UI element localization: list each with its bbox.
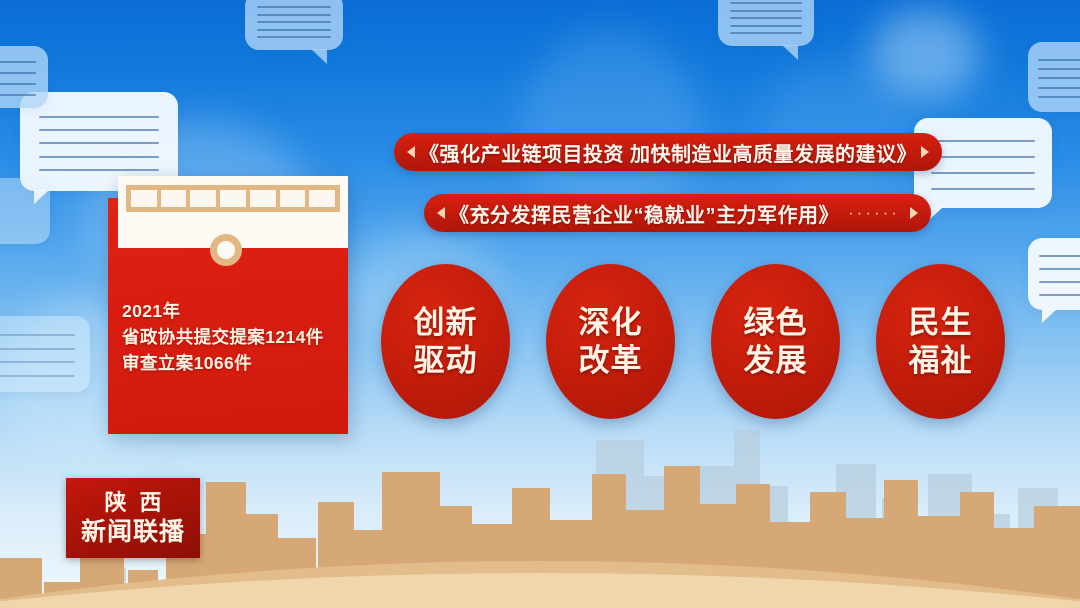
bubble-lines: [931, 140, 1036, 190]
circle-label-line-2: 福祉: [909, 342, 973, 380]
triangle-right-icon: [921, 146, 929, 158]
envelope-decor-strip: [126, 185, 340, 212]
background-bubble-left-lower: [0, 316, 90, 392]
circle-reform[interactable]: 深化 改革: [546, 264, 675, 419]
triangle-left-icon: [437, 207, 445, 219]
bubble-lines: [0, 334, 75, 377]
circle-label-line-1: 绿色: [744, 304, 808, 342]
envelope-statistics: 2021年 省政协共提交提案1214件 审查立案1066件: [122, 298, 338, 376]
bubble-tail: [311, 49, 327, 64]
banner-industry-chain[interactable]: 《强化产业链项目投资 加快制造业高质量发展的建议》: [394, 133, 942, 171]
triangle-right-icon: [910, 207, 918, 219]
circle-label-line-1: 创新: [414, 304, 478, 342]
bubble-tail: [1042, 309, 1057, 323]
circle-innovation[interactable]: 创新 驱动: [381, 264, 510, 419]
bubble-tail: [782, 45, 798, 60]
banner-text: 《充分发挥民营企业“稳就业”主力军作用》: [449, 199, 839, 228]
circle-label: 绿色 发展: [744, 304, 808, 380]
proposal-envelope: 2021年 省政协共提交提案1214件 审查立案1066件: [100, 176, 348, 434]
watermark-province: 陕西: [91, 489, 174, 517]
background-bubble-left-edge-mid: [0, 46, 48, 108]
bubble-lines: [1038, 59, 1080, 98]
circle-label-line-1: 民生: [909, 304, 973, 342]
banner-text: 《强化产业链项目投资 加快制造业高质量发展的建议》: [419, 138, 917, 167]
background-bubble-right-edge: [1028, 42, 1080, 112]
bubble-lines: [39, 116, 159, 171]
watermark-program: 新闻联播: [81, 517, 185, 547]
circle-label-line-2: 改革: [579, 342, 643, 380]
circle-label-line-2: 驱动: [414, 342, 478, 380]
bubble-lines: [730, 2, 803, 35]
circle-welfare[interactable]: 民生 福祉: [876, 264, 1005, 419]
channel-watermark: 陕西 新闻联播: [66, 478, 200, 558]
bubble-lines: [257, 6, 332, 39]
background-bubble-upper-right: [718, 0, 814, 46]
bubble-lines: [1039, 255, 1080, 295]
broadcast-graphic: 2021年 省政协共提交提案1214件 审查立案1066件 《强化产业链项目投资…: [0, 0, 1080, 608]
banner-ellipsis: ······: [848, 203, 900, 223]
bubble-lines: [0, 61, 36, 96]
background-bubble-right-lower: [1028, 238, 1080, 310]
glow-blob-3: [870, 10, 980, 100]
banner-private-enterprise[interactable]: 《充分发挥民营企业“稳就业”主力军作用》 ······: [424, 194, 931, 232]
envelope-stat-line-3: 审查立案1066件: [122, 350, 338, 376]
circle-label: 深化 改革: [579, 304, 643, 380]
background-bubble-top-left: [245, 0, 343, 50]
circle-label-line-2: 发展: [744, 342, 808, 380]
circle-label-line-1: 深化: [579, 304, 643, 342]
background-bubble-left-bottom: [0, 178, 50, 244]
envelope-clasp-icon: [210, 234, 242, 266]
circle-label: 民生 福祉: [909, 304, 973, 380]
envelope-stat-line-1: 2021年: [122, 298, 338, 324]
triangle-left-icon: [407, 146, 415, 158]
circle-label: 创新 驱动: [414, 304, 478, 380]
circle-green[interactable]: 绿色 发展: [711, 264, 840, 419]
glow-blob-4: [760, 60, 910, 200]
envelope-stat-line-2: 省政协共提交提案1214件: [122, 324, 338, 350]
